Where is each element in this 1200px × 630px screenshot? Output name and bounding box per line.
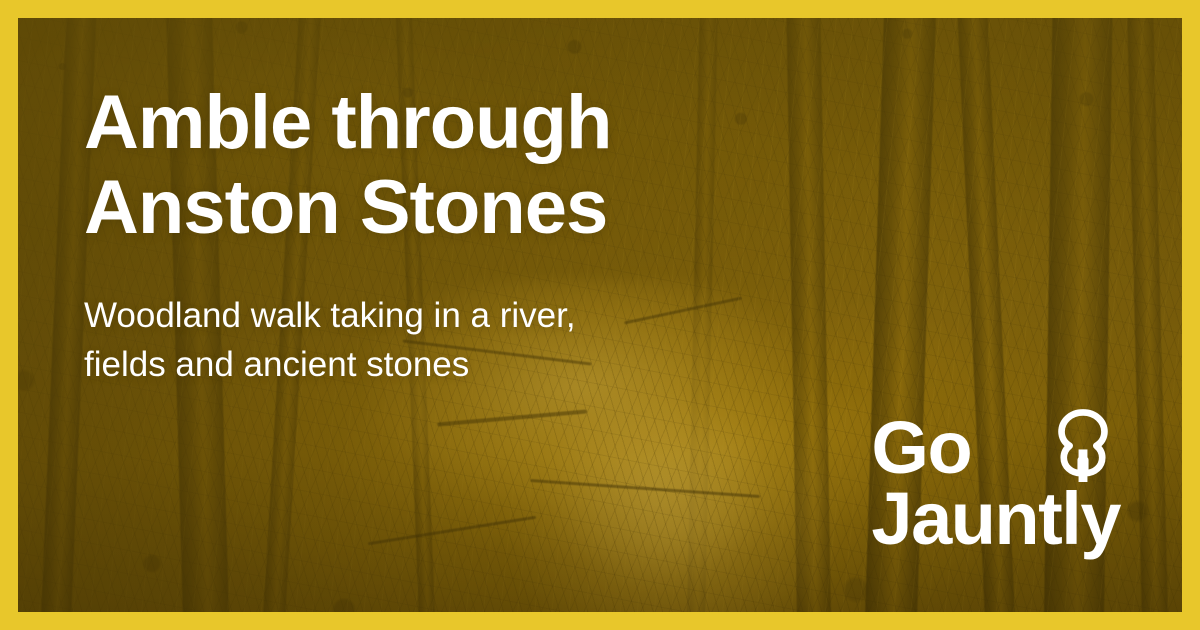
page-title: Amble through Anston Stones: [84, 80, 1122, 250]
page-subtitle: Woodland walk taking in a river, fields …: [84, 292, 804, 389]
tree-icon: [1046, 408, 1120, 482]
share-card: Amble through Anston Stones Woodland wal…: [0, 0, 1200, 630]
brand-logo: Go Jauntly: [871, 412, 1120, 554]
card-content: Amble through Anston Stones Woodland wal…: [84, 80, 1122, 389]
